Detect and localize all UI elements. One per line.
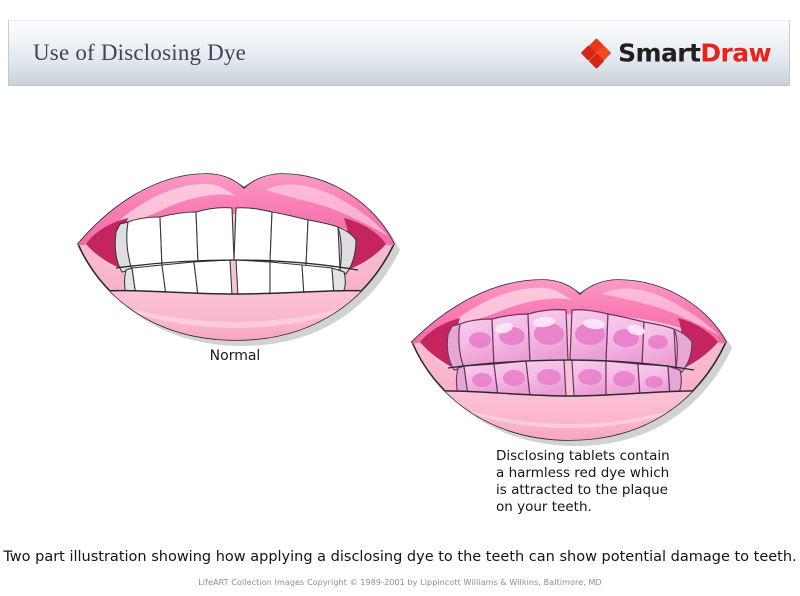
mouth-with-dye-stained-teeth <box>404 272 734 452</box>
diamond-cluster-icon <box>583 40 609 66</box>
mouth-with-normal-teeth <box>70 162 400 352</box>
header-bar: Use of Disclosing Dye SmartDraw <box>8 20 790 86</box>
lower-lip <box>82 291 390 344</box>
logo-word-smart: Smart <box>618 39 700 68</box>
normal-mouth-label: Normal <box>145 348 325 364</box>
smartdraw-wordmark: SmartDraw <box>618 39 771 68</box>
copyright-credit: LifeART Collection Images Copyright © 19… <box>0 578 800 587</box>
lower-lip <box>416 391 722 444</box>
smartdraw-logo[interactable]: SmartDraw <box>583 39 771 68</box>
logo-word-draw: Draw <box>700 39 771 68</box>
illustration-stage: Normal <box>0 86 800 538</box>
disclosing-tablets-note: Disclosing tablets contain a harmless re… <box>496 448 670 516</box>
figure-caption: Two part illustration showing how applyi… <box>0 549 800 565</box>
page-title: Use of Disclosing Dye <box>33 40 246 66</box>
